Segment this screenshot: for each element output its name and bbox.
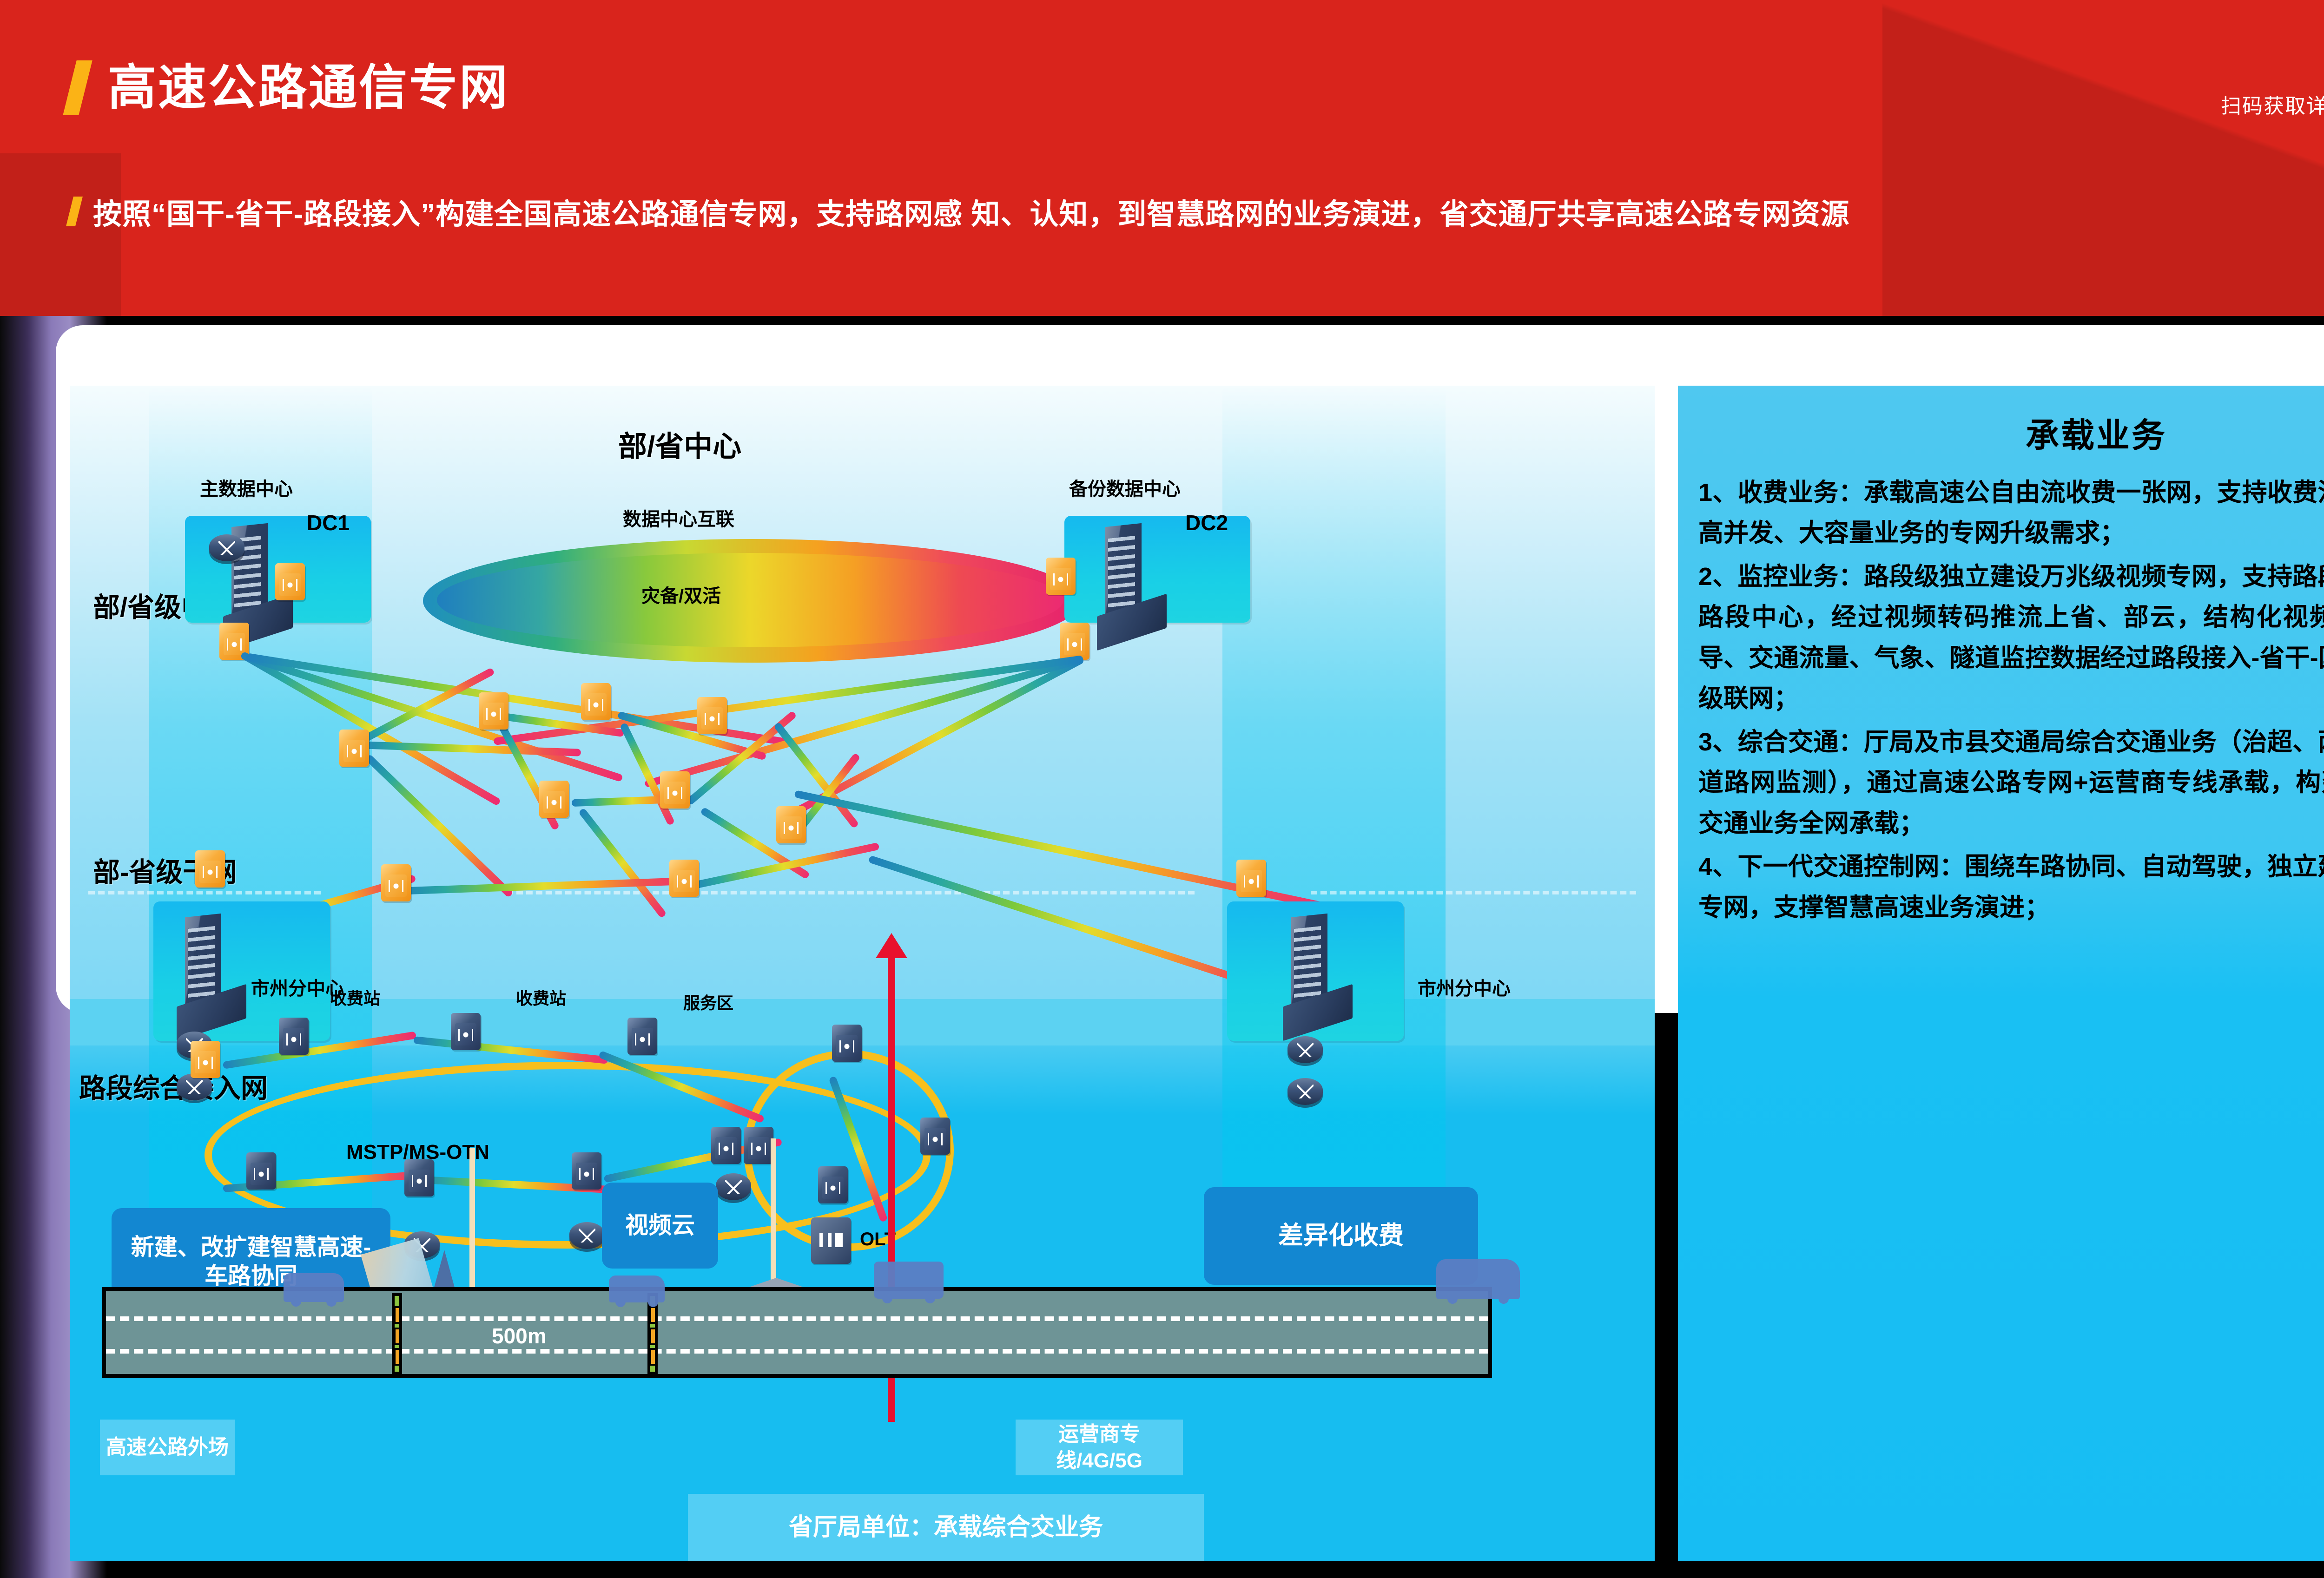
dc2-edge-router-icon bbox=[1060, 623, 1089, 660]
backbone-node bbox=[539, 781, 569, 818]
access-node-bottom-4 bbox=[818, 1166, 848, 1203]
qr-caption: 扫码获取详细资料 bbox=[2221, 89, 2324, 119]
business-panel: 承载业务 1、收费业务：承载高速公自由流收费一张网，支持收费流水、牌识流水高并发… bbox=[1678, 386, 2324, 1561]
label-main-datacenter: 主数据中心 bbox=[200, 474, 293, 501]
backbone-node bbox=[339, 730, 369, 767]
label-service-area: 服务区 bbox=[683, 990, 733, 1014]
divider-dash-left bbox=[88, 891, 321, 894]
road-distance-label: 500m bbox=[492, 1323, 547, 1348]
carrier-trunk-arrow-icon bbox=[876, 933, 907, 958]
access-node-bottom-1 bbox=[246, 1152, 276, 1190]
city-center-right-building-icon bbox=[1283, 915, 1353, 1032]
dc-dualactive-ring bbox=[437, 553, 1063, 647]
divider-dash-mid bbox=[507, 891, 1195, 894]
page-title: 高速公路通信专网 bbox=[108, 64, 509, 112]
business-item: 2、监控业务：路段级独立建设万兆级视频专网，支持路段监控视频上传路段中心，经过视… bbox=[1698, 557, 2324, 719]
access-node-junction-1 bbox=[711, 1127, 741, 1164]
backbone-node bbox=[669, 860, 699, 897]
access-node-sub-ring-top bbox=[832, 1025, 862, 1062]
city-center-right-router-icon bbox=[1236, 860, 1266, 897]
city-center-left-access-router bbox=[191, 1041, 220, 1078]
header-shade-right bbox=[1882, 0, 2324, 316]
callout-video-cloud[interactable]: 视频云 bbox=[602, 1183, 718, 1269]
business-item: 3、综合交通：厅局及市县交通局综合交通业务（治超、两客一危、国省道路网监测），通… bbox=[1698, 722, 2324, 844]
backbone-node bbox=[581, 683, 611, 720]
page-subtitle: 按照“国干-省干-路段接入”构建全国高速公路通信专网，支持路网感 知、认知，到智… bbox=[93, 191, 1850, 232]
tag-highway-field: 高速公路外场 bbox=[100, 1420, 235, 1475]
network-architecture-diagram: 部/省级中心 部-省级干网 路段综合接入网 部/省中心 数据中心互联 灾备/双活… bbox=[70, 386, 1655, 1561]
camera-pole-mid bbox=[771, 1138, 776, 1292]
tag-carrier-line: 运营商专线/4G/5G bbox=[1016, 1420, 1183, 1475]
header-band bbox=[0, 0, 2324, 316]
qr-block[interactable]: 扫码获取详细资料 bbox=[2221, 65, 2324, 143]
access-node-junction-2 bbox=[744, 1127, 773, 1164]
column-right-highlight bbox=[1222, 386, 1446, 1231]
lane-marking-top bbox=[106, 1316, 1488, 1321]
dc1-router-icon bbox=[275, 563, 305, 600]
business-item: 1、收费业务：承载高速公自由流收费一张网，支持收费流水、牌识流水高并发、大容量业… bbox=[1698, 473, 2324, 554]
access-switch-4 bbox=[716, 1173, 751, 1200]
tag-province-unit: 省厅局单位：承载综合交业务 bbox=[688, 1494, 1204, 1561]
dc1-switch-icon bbox=[209, 534, 244, 561]
truck-icon bbox=[874, 1262, 944, 1299]
olt-device-icon bbox=[811, 1217, 851, 1264]
dc2-router-icon bbox=[1046, 558, 1076, 595]
business-item-list: 1、收费业务：承载高速公自由流收费一张网，支持收费流水、牌识流水高并发、大容量业… bbox=[1698, 473, 2324, 928]
label-dc2-code: DC2 bbox=[1185, 510, 1228, 535]
label-dc1-code: DC1 bbox=[307, 510, 350, 535]
lane-marking-bottom bbox=[106, 1349, 1488, 1354]
label-backup-datacenter: 备份数据中心 bbox=[1069, 474, 1181, 501]
backbone-node bbox=[697, 697, 727, 734]
vehicle-icon bbox=[609, 1276, 665, 1302]
access-node-service-area bbox=[627, 1018, 657, 1055]
access-node-bottom-3 bbox=[572, 1152, 601, 1190]
access-node-bottom-2 bbox=[404, 1159, 434, 1197]
etc-gantry-left bbox=[392, 1293, 402, 1374]
access-switch-3 bbox=[569, 1222, 605, 1249]
slide-canvas: 高速公路通信专网 按照“国干-省干-路段接入”构建全国高速公路通信专网，支持路网… bbox=[0, 0, 2324, 1578]
vehicle-icon bbox=[284, 1273, 344, 1302]
page-title-row: 高速公路通信专网 bbox=[70, 60, 509, 115]
business-item: 4、下一代交通控制网：围绕车路协同、自动驾驶，独立建设下一代通信专网，支撑智慧高… bbox=[1698, 847, 2324, 928]
diagram-center-title: 部/省中心 bbox=[618, 423, 741, 465]
city-center-left-building-icon bbox=[177, 915, 246, 1032]
backbone-node bbox=[660, 771, 690, 809]
access-node-sub-ring-right bbox=[920, 1118, 950, 1155]
business-panel-title: 承载业务 bbox=[1678, 408, 2324, 457]
label-dci: 数据中心互联 bbox=[623, 504, 734, 531]
page-subtitle-row: 按照“国干-省干-路段接入”构建全国高速公路通信专网，支持路网感 知、认知，到智… bbox=[70, 191, 2324, 232]
city-center-right-switch-1 bbox=[1287, 1036, 1323, 1063]
backbone-node bbox=[381, 864, 411, 901]
divider-dash-right bbox=[1311, 891, 1636, 894]
label-toll-station-2: 收费站 bbox=[516, 985, 566, 1009]
label-disaster-recovery: 灾备/双活 bbox=[641, 581, 721, 608]
label-city-center-right: 市州分中心 bbox=[1418, 973, 1511, 1000]
camera-pole-left bbox=[469, 1148, 475, 1301]
city-center-right-switch-2 bbox=[1287, 1078, 1323, 1105]
backbone-node bbox=[479, 692, 508, 730]
access-node-toll-1 bbox=[279, 1018, 309, 1055]
city-center-left-router-icon bbox=[195, 850, 225, 888]
backbone-node bbox=[776, 806, 806, 843]
label-toll-station-1: 收费站 bbox=[330, 985, 380, 1009]
access-node-toll-2 bbox=[451, 1013, 481, 1050]
header-shade-left bbox=[0, 153, 121, 316]
bus-icon bbox=[1436, 1259, 1520, 1299]
dc2-building-icon bbox=[1097, 525, 1167, 641]
section-label-level3: 路段综合接入网 bbox=[79, 1066, 268, 1105]
